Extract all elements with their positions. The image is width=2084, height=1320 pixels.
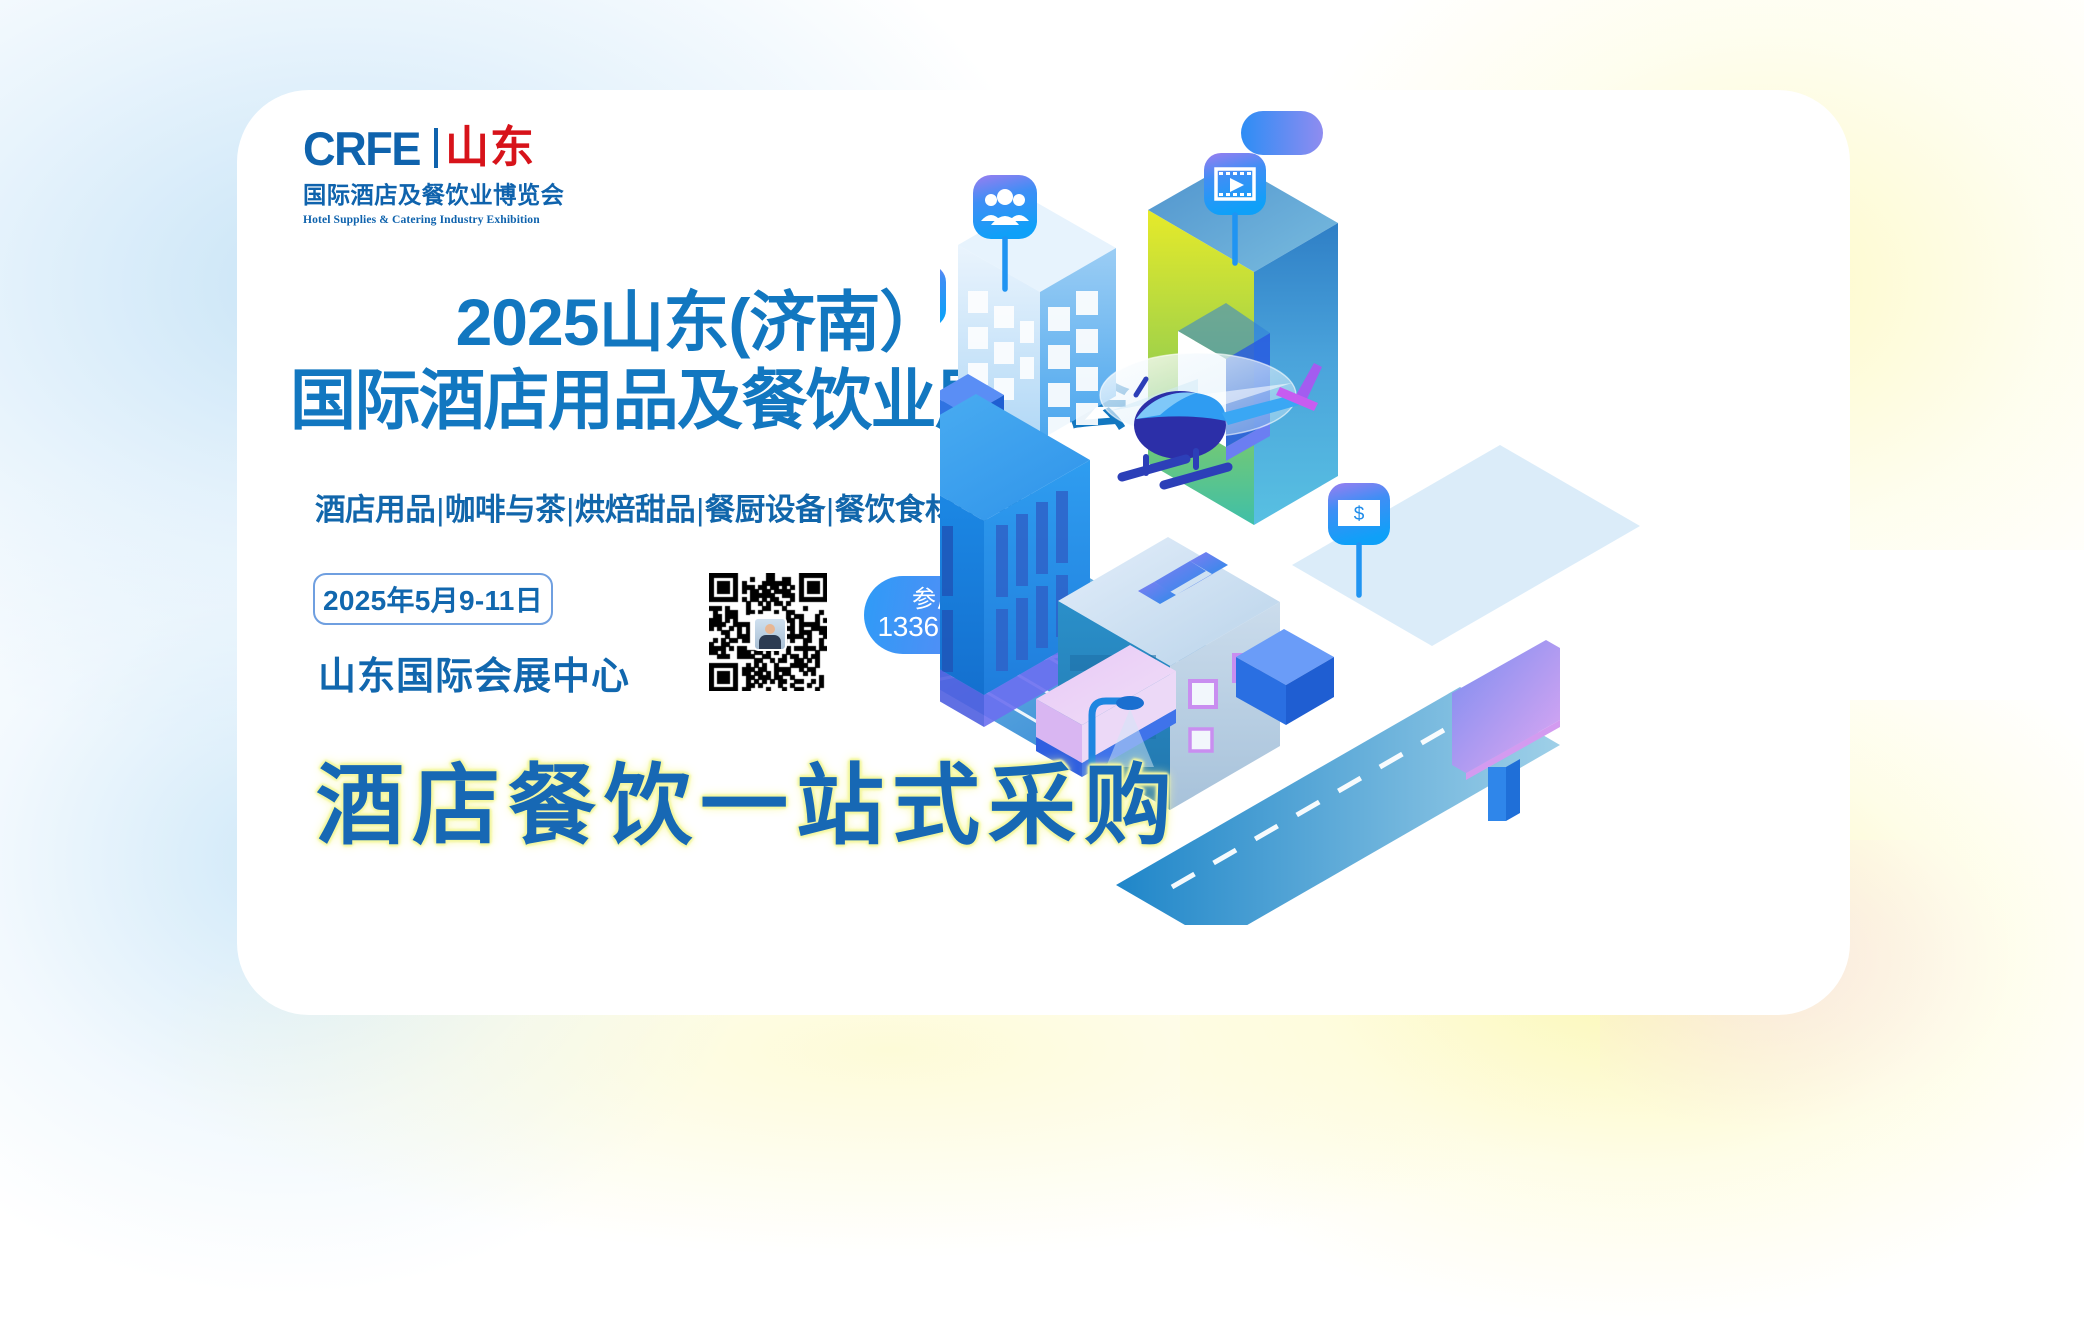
venue-label: 山东国际会展中心 [318,645,630,700]
event-date-label: 2025年5月9-11日 [323,579,543,619]
qr-code[interactable] [709,573,827,691]
city-base [1292,445,1640,646]
event-date-badge: 2025年5月9-11日 [313,573,553,625]
category-separator: | [696,493,704,527]
logo-divider [434,128,438,168]
wifi-pin-icon [940,265,946,377]
category-separator: | [436,493,444,527]
category-item: 餐饮食材 [835,493,955,527]
category-separator: | [566,493,574,527]
category-item: 烘焙甜品 [575,493,695,527]
main-slogan: 酒店餐饮一站式采购 [316,735,1180,862]
logo-english-name: Hotel Supplies & Catering Industry Exhib… [303,213,573,226]
qr-center-avatar [753,617,787,651]
avatar-body [759,635,781,649]
category-item: 餐厨设备 [705,493,825,527]
green-yellow-arch [1148,162,1338,525]
category-item: 酒店用品 [315,493,435,527]
logo-acronym: CRFE [303,125,420,172]
logo-wordmark-row: CRFE 山东 [303,122,573,174]
blue-pill-shape [1241,111,1323,155]
logo-region: 山东 [445,126,535,170]
crfe-logo: CRFE 山东 国际酒店及餐饮业博览会 Hotel Supplies & Cat… [303,122,573,226]
category-separator: | [826,493,834,527]
avatar-head [765,624,775,634]
category-item: 咖啡与茶 [445,493,565,527]
logo-chinese-name: 国际酒店及餐饮业博览会 [303,176,570,210]
dollar-bill-icon: $ [1338,500,1380,526]
svg-text:$: $ [1354,504,1365,525]
